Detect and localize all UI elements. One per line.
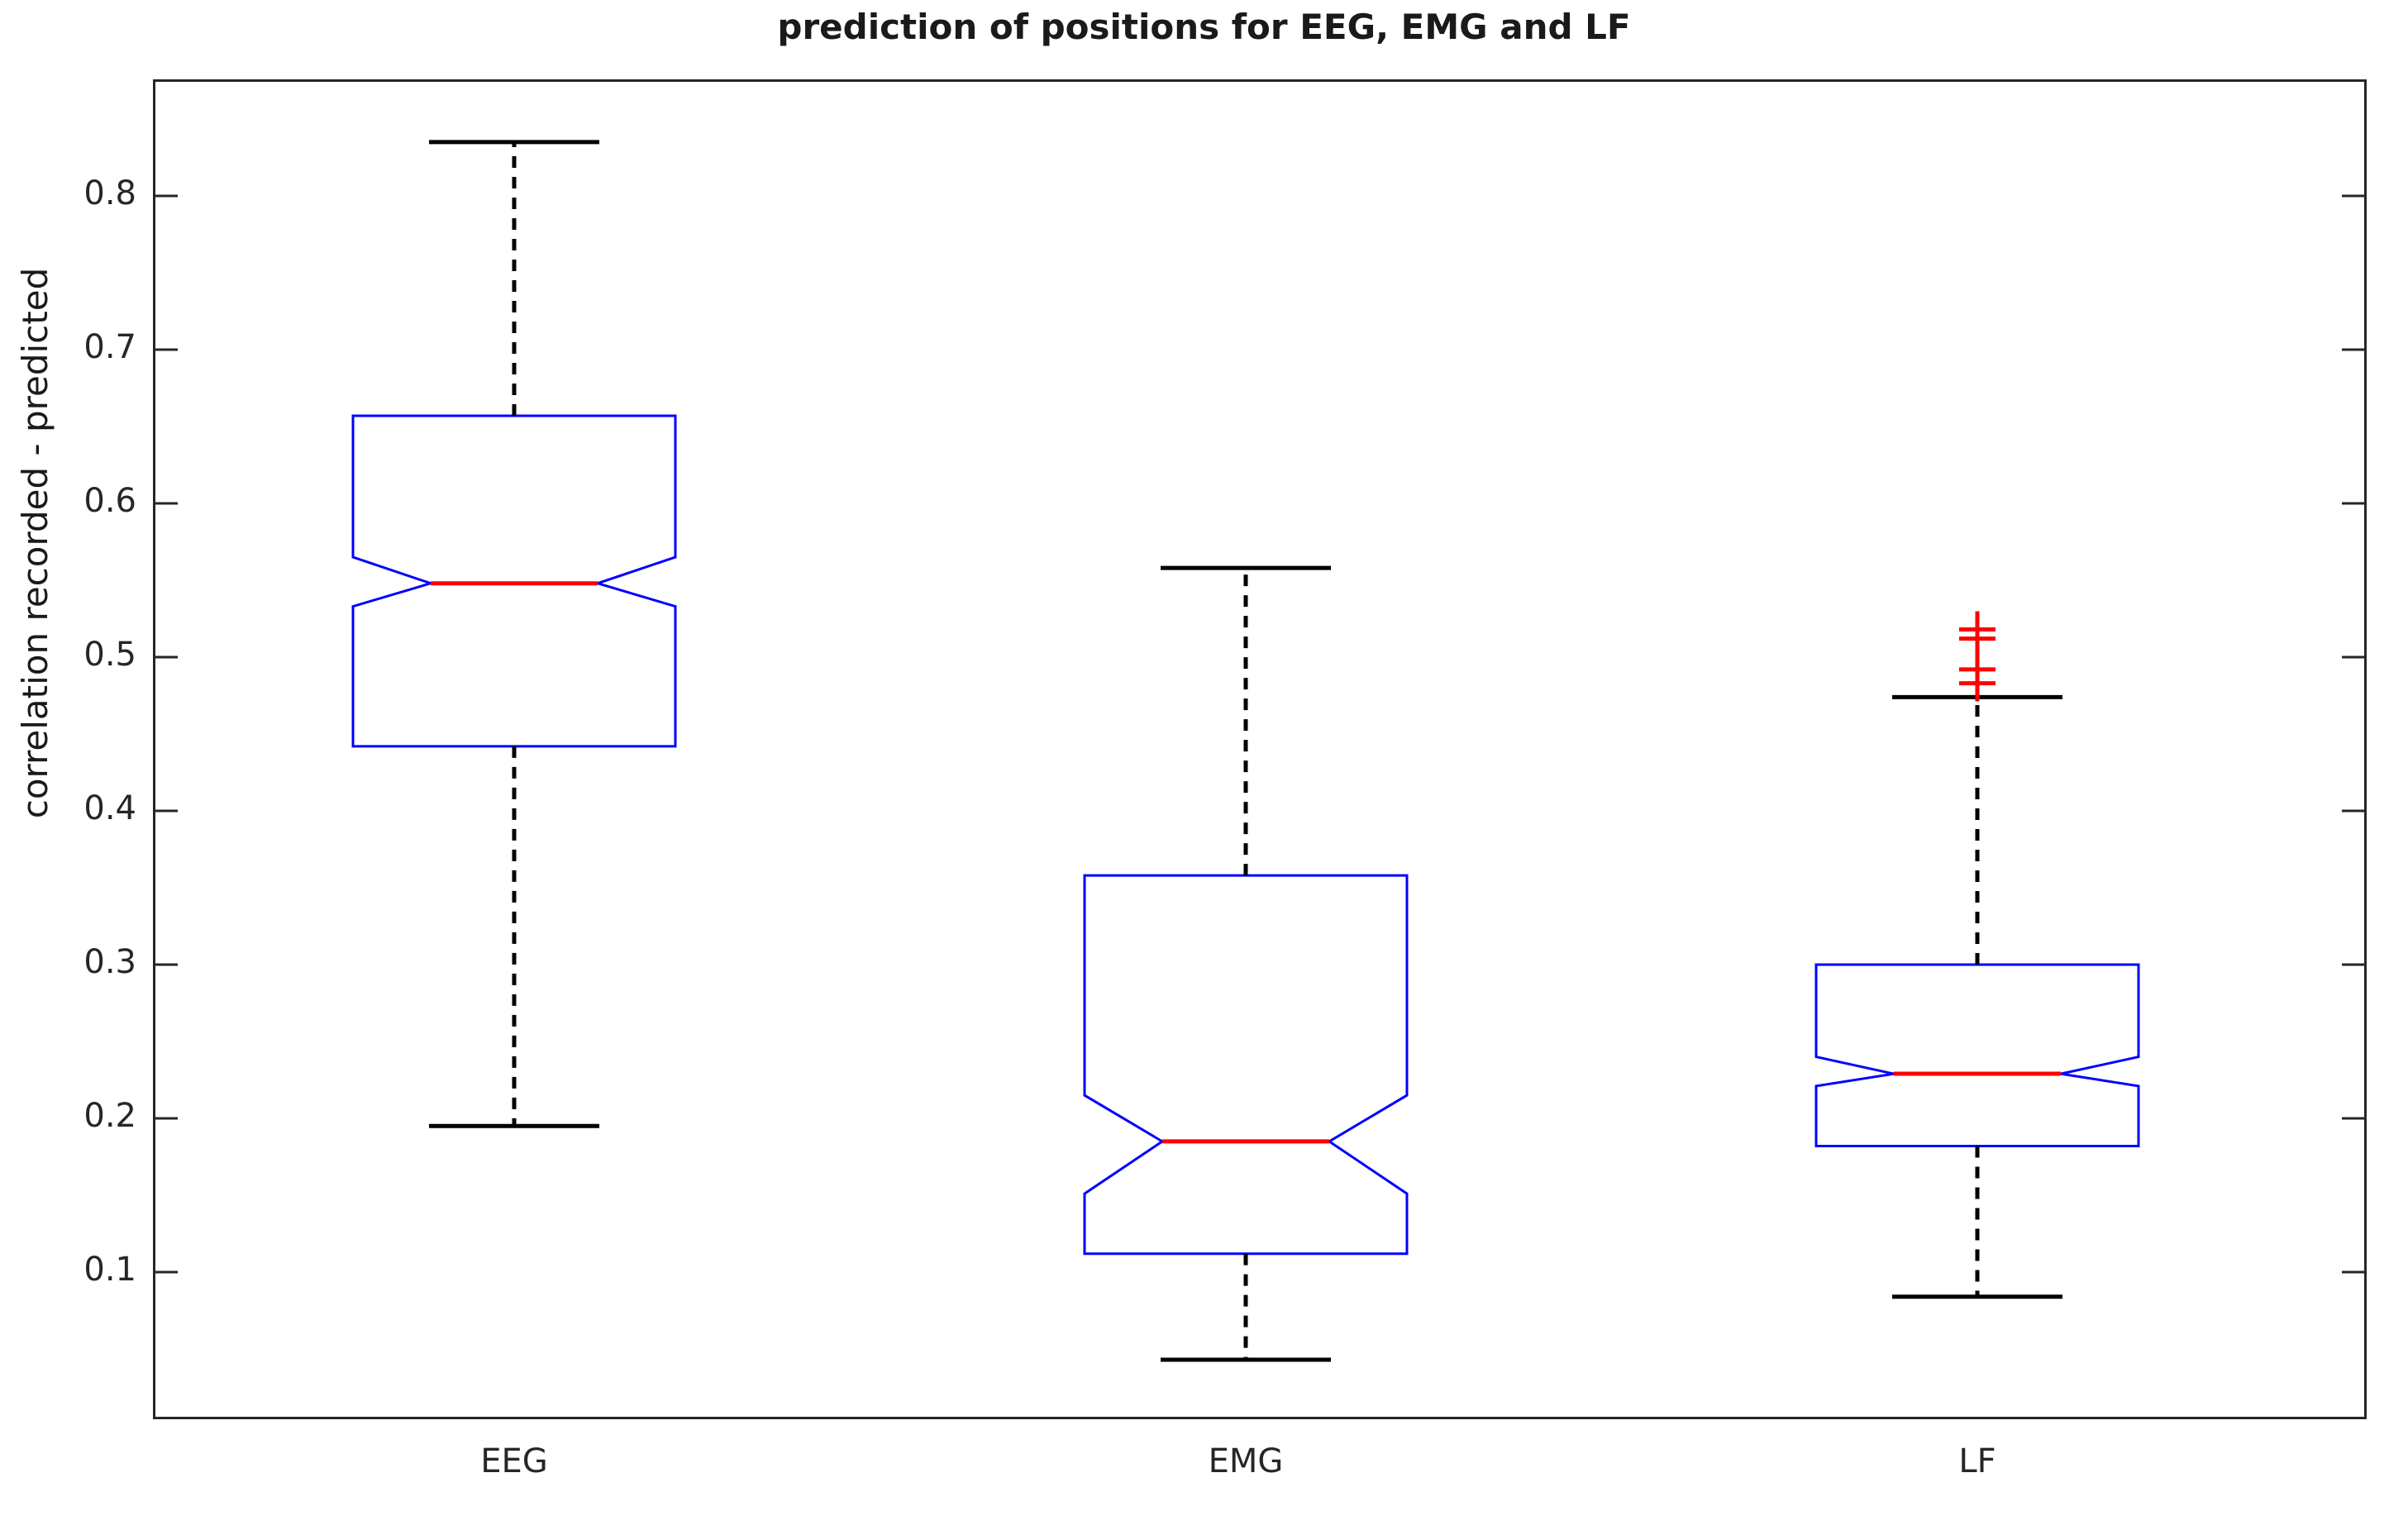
figure-root: prediction of positions for EEG, EMG and… — [0, 0, 2408, 1530]
box-outline-emg — [1085, 875, 1407, 1254]
y-tick-label: 0.8 — [4, 174, 136, 212]
box-outline-lf — [1816, 965, 2139, 1146]
y-tick-label: 0.6 — [4, 482, 136, 520]
x-tick-label-emg: EMG — [1122, 1442, 1370, 1480]
y-tick-label: 0.4 — [4, 789, 136, 827]
y-tick-label: 0.5 — [4, 636, 136, 674]
y-tick-label: 0.3 — [4, 943, 136, 981]
box-group-eeg — [353, 142, 675, 1126]
x-tick-label-eeg: EEG — [390, 1442, 638, 1480]
box-plot-canvas — [0, 0, 2408, 1530]
y-tick-label: 0.2 — [4, 1097, 136, 1135]
box-outline-eeg — [353, 416, 675, 746]
y-tick-label: 0.7 — [4, 328, 136, 366]
y-axis-ticks — [153, 196, 2367, 1272]
box-group-emg — [1085, 568, 1407, 1360]
y-tick-label: 0.1 — [4, 1251, 136, 1289]
x-tick-label-lf: LF — [1853, 1442, 2101, 1480]
box-group-lf — [1816, 612, 2139, 1297]
